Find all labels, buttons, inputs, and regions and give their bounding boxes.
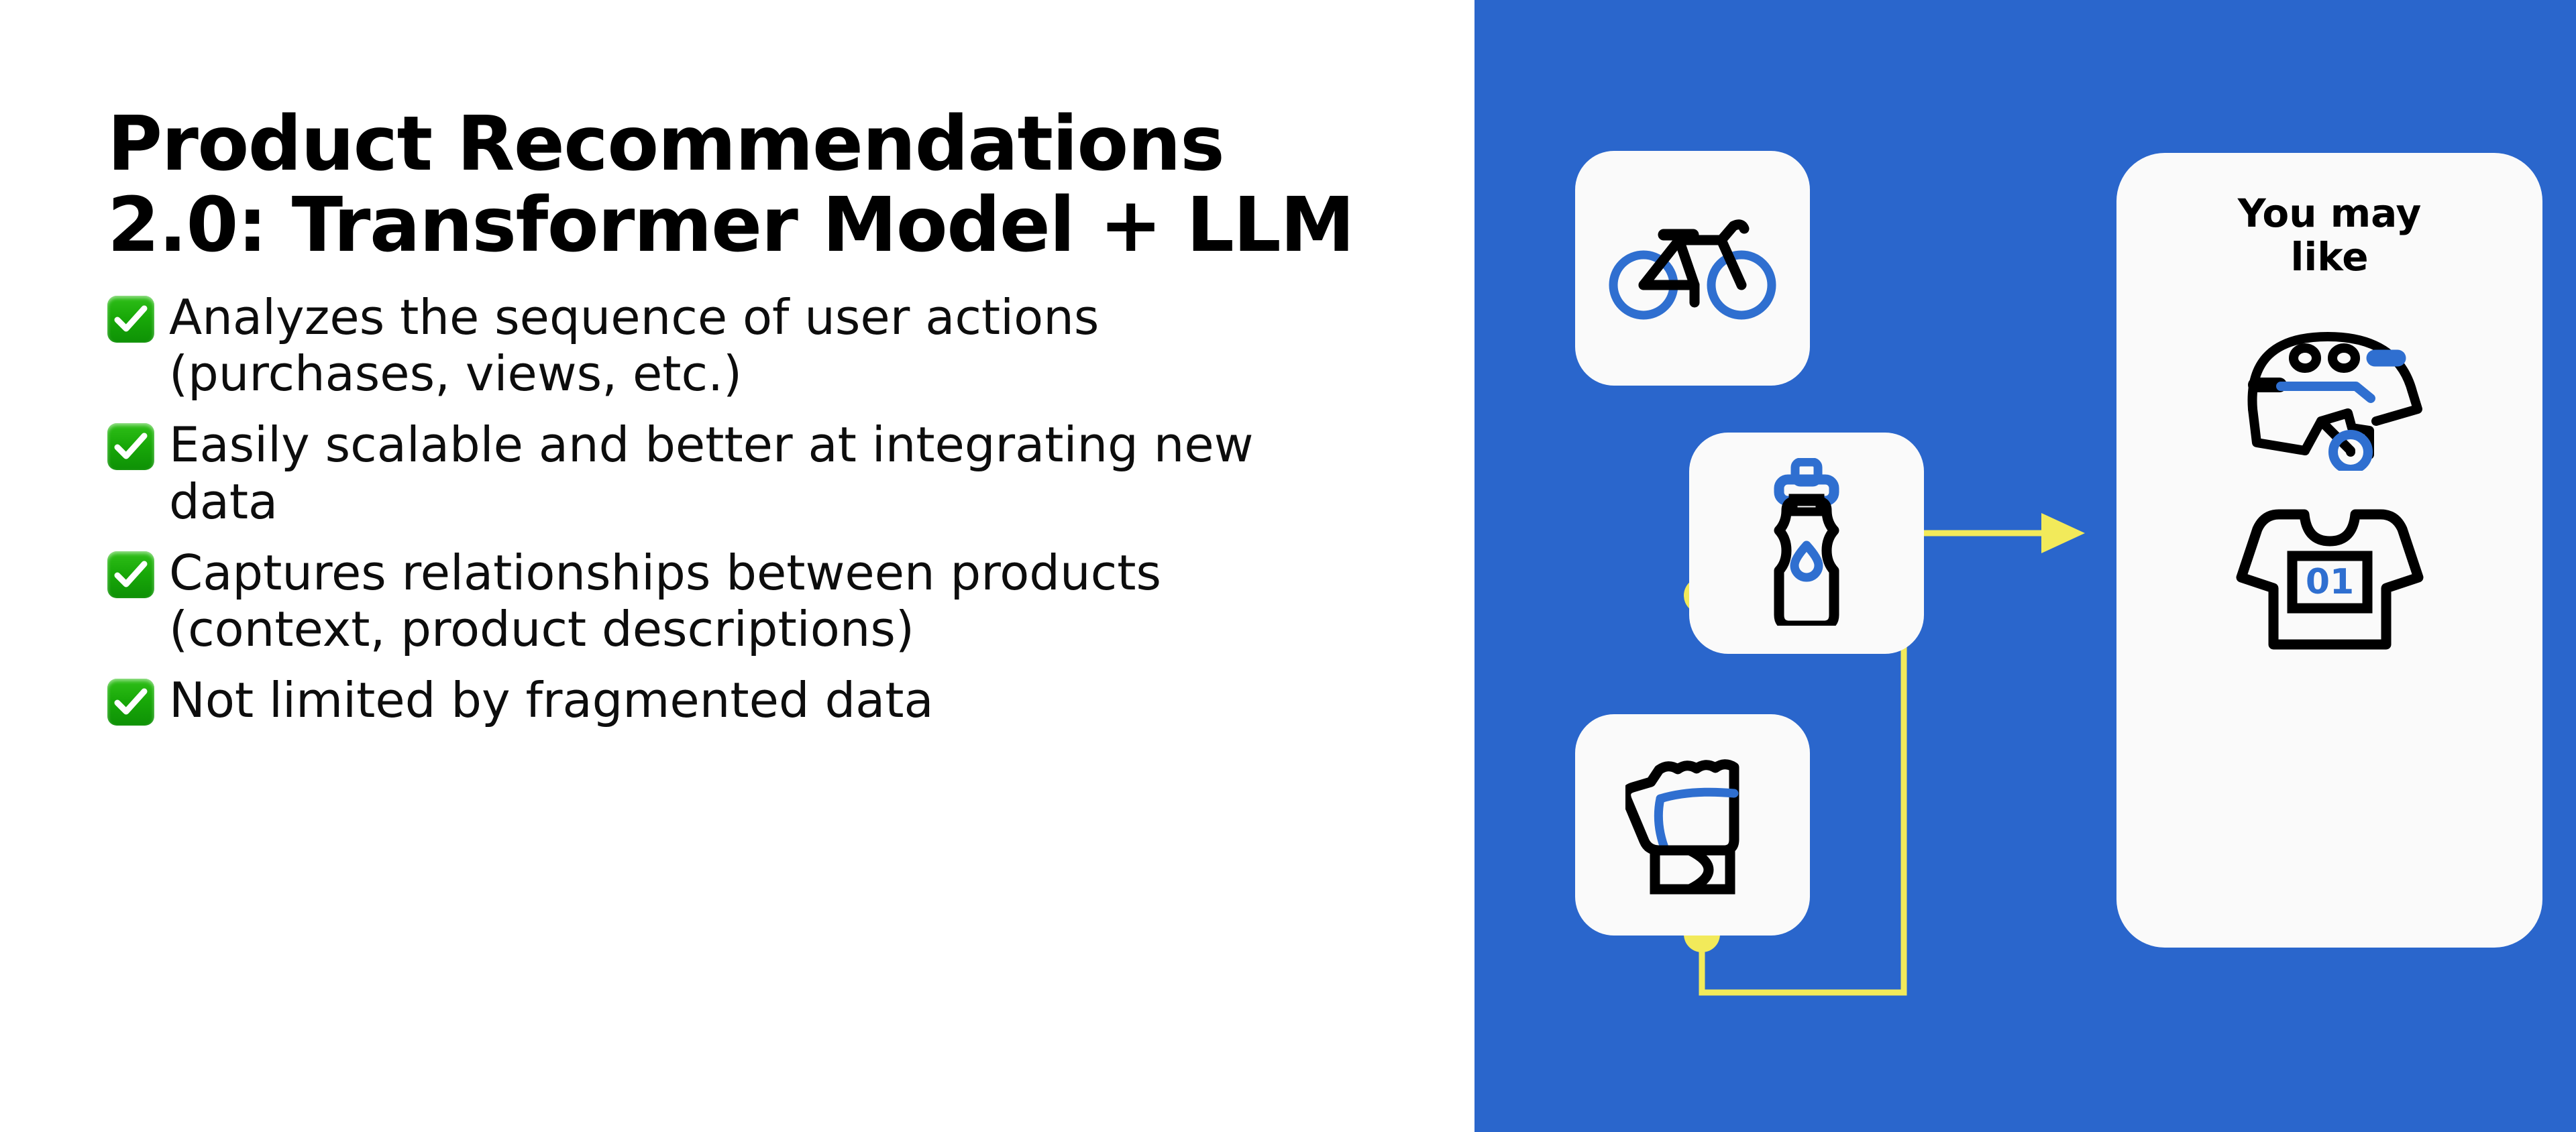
jersey-tshirt-icon: 01 <box>2236 502 2424 660</box>
page-title-line-2: 2.0: Transformer Model + LLM <box>107 185 1374 266</box>
list-item-label: Easily scalable and better at integratin… <box>169 416 1374 529</box>
list-item: Analyzes the sequence of user actions (p… <box>107 289 1374 402</box>
white-check-mark-icon <box>107 551 154 598</box>
slide-root: Product Recommendations 2.0: Transformer… <box>0 0 2576 1132</box>
cycling-glove-icon <box>1625 746 1760 904</box>
recommendations-card[interactable]: You may like <box>2116 153 2542 948</box>
white-check-mark-icon <box>107 423 154 470</box>
history-card-water-bottle[interactable] <box>1689 433 1924 654</box>
page-title: Product Recommendations 2.0: Transformer… <box>107 104 1374 266</box>
bike-helmet-icon <box>2233 317 2427 474</box>
list-item-label: Not limited by fragmented data <box>169 672 934 728</box>
list-item-label: Captures relationships between products … <box>169 545 1374 657</box>
jersey-number: 01 <box>2305 562 2353 602</box>
history-card-cycling-glove[interactable] <box>1575 714 1810 936</box>
bicycle-icon <box>1609 210 1776 327</box>
list-item-label: Analyzes the sequence of user actions (p… <box>169 289 1374 402</box>
water-bottle-icon <box>1756 458 1857 629</box>
list-item: Not limited by fragmented data <box>107 672 1374 728</box>
history-card-bicycle[interactable] <box>1575 151 1810 386</box>
arrow-right-icon <box>2041 513 2085 553</box>
left-content-panel: Product Recommendations 2.0: Transformer… <box>0 0 1474 1132</box>
white-check-mark-icon <box>107 679 154 726</box>
list-item: Easily scalable and better at integratin… <box>107 416 1374 529</box>
white-check-mark-icon <box>107 296 154 343</box>
recommendations-title: You may like <box>2216 192 2444 279</box>
list-item: Captures relationships between products … <box>107 545 1374 657</box>
diagram-panel: You may like <box>1474 0 2576 1132</box>
page-title-line-1: Product Recommendations <box>107 104 1374 185</box>
